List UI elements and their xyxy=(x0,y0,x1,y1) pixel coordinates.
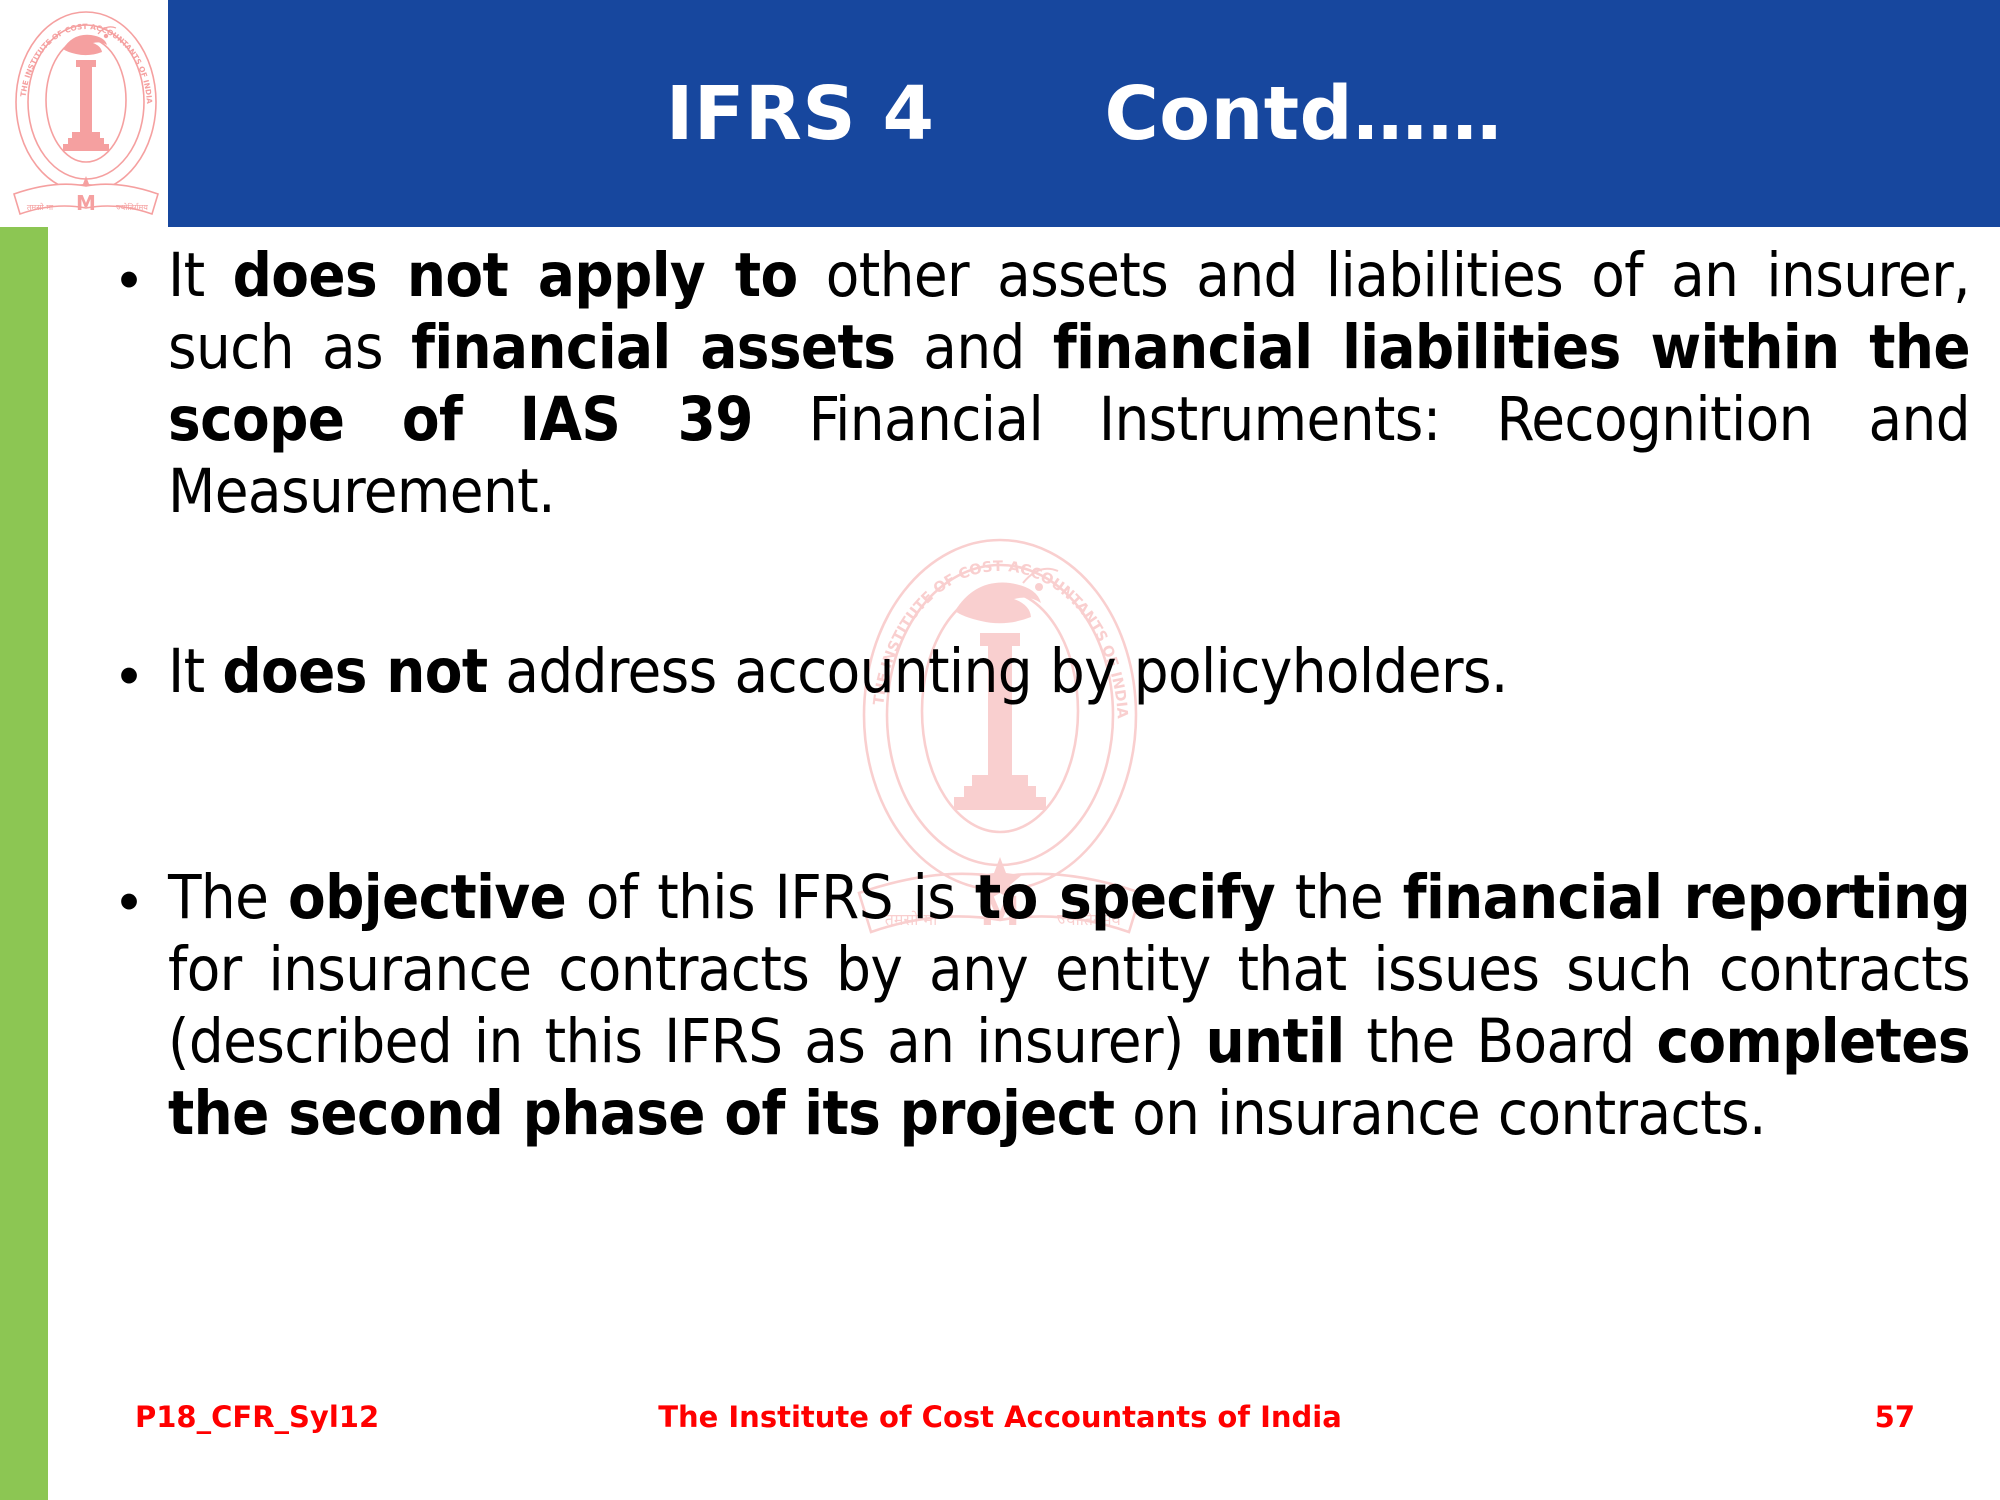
bullet-marker: • xyxy=(90,636,168,712)
slide-body: • It does not apply to other assets and … xyxy=(90,240,1970,1370)
slide-footer: P18_CFR_Syl12 The Institute of Cost Acco… xyxy=(0,1400,2000,1460)
slide-title-contd: Contd…… xyxy=(1104,71,1502,157)
spacer xyxy=(90,712,1970,862)
svg-text:M: M xyxy=(76,191,96,215)
bullet-text: It does not address accounting by policy… xyxy=(168,636,1970,708)
left-accent-bar-white xyxy=(48,227,64,1500)
svg-text:तमसो मा: तमसो मा xyxy=(27,202,54,212)
slide-header-band: IFRS 4Contd…… xyxy=(168,0,2000,227)
bullet-marker: • xyxy=(90,240,168,316)
svg-text:ज्योतिर्गमय: ज्योतिर्गमय xyxy=(116,202,148,212)
footer-page-number: 57 xyxy=(1875,1400,1915,1434)
spacer xyxy=(90,528,1970,636)
slide-title: IFRS 4Contd…… xyxy=(168,0,2000,227)
bullet-item: • It does not apply to other assets and … xyxy=(90,240,1970,528)
bullet-text: The objective of this IFRS is to specify… xyxy=(168,862,1970,1150)
slide-title-main: IFRS 4 xyxy=(666,71,935,157)
bullet-item: • It does not address accounting by poli… xyxy=(90,636,1970,712)
bullet-text: It does not apply to other assets and li… xyxy=(168,240,1970,528)
left-accent-bar-green xyxy=(0,227,48,1500)
footer-institute-name: The Institute of Cost Accountants of Ind… xyxy=(0,1400,2000,1434)
presentation-slide: IFRS 4Contd…… THE INSTITUTE OF COST ACCO… xyxy=(0,0,2000,1500)
bullet-item: • The objective of this IFRS is to speci… xyxy=(90,862,1970,1150)
institute-logo-icon: THE INSTITUTE OF COST ACCOUNTANTS OF IND… xyxy=(6,4,166,226)
bullet-marker: • xyxy=(90,862,168,938)
